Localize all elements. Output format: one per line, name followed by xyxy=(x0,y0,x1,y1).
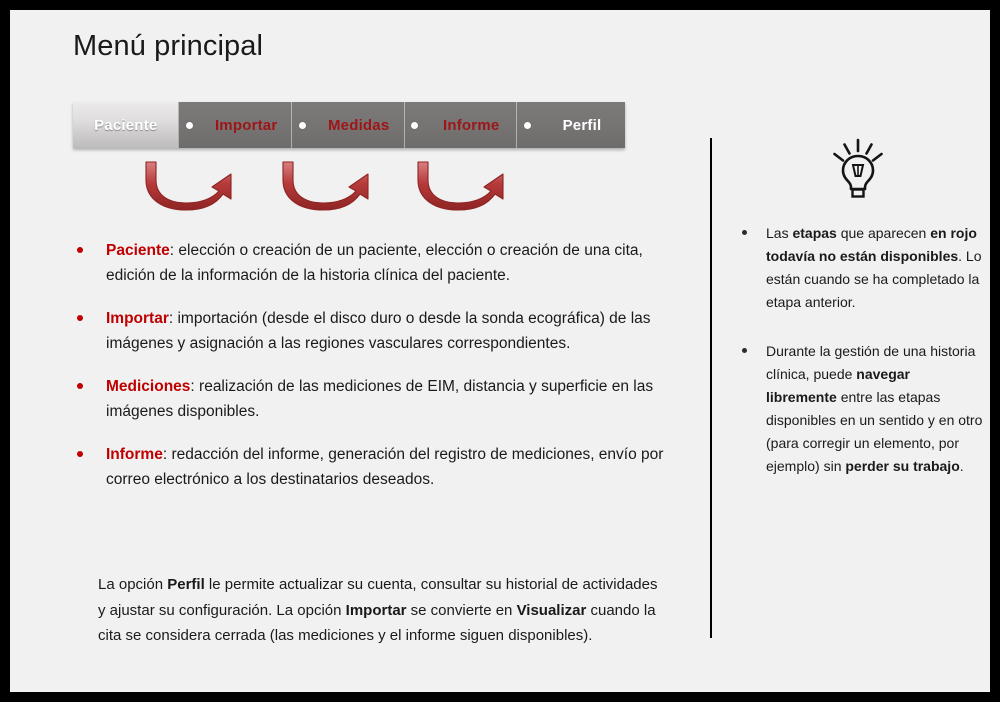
curved-progress-arrow-icon xyxy=(410,158,520,216)
nav-separator-4 xyxy=(516,102,539,148)
bullet-keyword: Mediciones xyxy=(106,378,190,395)
bullet-text: Importar: importación (desde el disco du… xyxy=(106,306,676,356)
curved-progress-arrow-icon xyxy=(275,158,385,216)
bullet-text: Informe: redacción del informe, generaci… xyxy=(106,442,676,492)
lightbulb-icon xyxy=(830,138,886,200)
tip-bold-trabajo: perder su trabajo xyxy=(845,458,959,474)
bullet-dot-icon xyxy=(77,451,83,457)
slide-frame: Menú principal Paciente Importar Medidas… xyxy=(10,10,990,692)
nav-separator-3 xyxy=(404,102,427,148)
footer-note-part3: se convierte en xyxy=(407,602,517,619)
dot-separator-icon xyxy=(524,122,531,129)
application-step-navigation: Paciente Importar Medidas Informe Perfil xyxy=(73,102,625,148)
curved-progress-arrow-icon xyxy=(138,158,248,216)
bullet-text: Mediciones: realización de las medicione… xyxy=(106,374,676,424)
bullet-body: : importación (desde el disco duro o des… xyxy=(106,310,651,352)
page-title: Menú principal xyxy=(73,30,263,63)
bullet-dot-icon xyxy=(77,315,83,321)
tips-panel: Las etapas que aparecen en rojo todavía … xyxy=(732,138,984,504)
tip-part3: . xyxy=(960,458,964,474)
footer-note-bold-importar: Importar xyxy=(346,602,407,619)
tip-text: Durante la gestión de una historia clíni… xyxy=(766,340,984,478)
nav-tab-medidas-label: Medidas xyxy=(328,117,389,134)
tip-text: Las etapas que aparecen en rojo todavía … xyxy=(766,222,984,314)
nav-tab-importar-label: Importar xyxy=(215,117,277,134)
bullet-keyword: Informe xyxy=(106,446,163,463)
nav-tab-medidas[interactable]: Medidas xyxy=(314,102,404,148)
list-item: Paciente: elección o creación de un paci… xyxy=(66,238,676,288)
vertical-divider xyxy=(710,138,712,638)
dot-separator-icon xyxy=(186,122,193,129)
dot-separator-icon xyxy=(299,122,306,129)
bullet-body: : elección o creación de un paciente, el… xyxy=(106,242,643,284)
nav-tab-informe-label: Informe xyxy=(443,117,499,134)
footer-note-bold-perfil: Perfil xyxy=(167,576,205,593)
nav-tab-perfil[interactable]: Perfil xyxy=(539,102,625,148)
bullet-dot-icon xyxy=(742,230,747,235)
nav-tab-paciente-label: Paciente xyxy=(94,117,157,134)
footer-note-part1: La opción xyxy=(98,576,167,593)
nav-tab-informe[interactable]: Informe xyxy=(426,102,516,148)
bullet-dot-icon xyxy=(77,247,83,253)
list-item: Importar: importación (desde el disco du… xyxy=(66,306,676,356)
bullet-dot-icon xyxy=(742,348,747,353)
list-item: Informe: redacción del informe, generaci… xyxy=(66,442,676,492)
bullet-dot-icon xyxy=(77,383,83,389)
bullet-text: Paciente: elección o creación de un paci… xyxy=(106,238,676,288)
nav-separator-2 xyxy=(291,102,314,148)
nav-tab-importar[interactable]: Importar xyxy=(201,102,291,148)
list-item: Mediciones: realización de las medicione… xyxy=(66,374,676,424)
bullet-keyword: Importar xyxy=(106,310,169,327)
nav-separator-1 xyxy=(178,102,201,148)
bullet-body: : redacción del informe, generación del … xyxy=(106,446,663,488)
main-bullet-list: Paciente: elección o creación de un paci… xyxy=(66,238,676,510)
nav-tab-perfil-label: Perfil xyxy=(563,117,602,134)
lightbulb-icon-wrap xyxy=(732,138,984,200)
footer-note: La opción Perfil le permite actualizar s… xyxy=(98,572,668,649)
list-item: Las etapas que aparecen en rojo todavía … xyxy=(732,222,984,314)
footer-note-bold-visualizar: Visualizar xyxy=(517,602,587,619)
nav-tab-paciente[interactable]: Paciente xyxy=(73,102,178,148)
list-item: Durante la gestión de una historia clíni… xyxy=(732,340,984,478)
tip-part1: Las xyxy=(766,225,792,241)
bullet-keyword: Paciente xyxy=(106,242,170,259)
dot-separator-icon xyxy=(411,122,418,129)
tip-bold-etapas: etapas xyxy=(792,225,836,241)
tip-part2: que aparecen xyxy=(837,225,930,241)
